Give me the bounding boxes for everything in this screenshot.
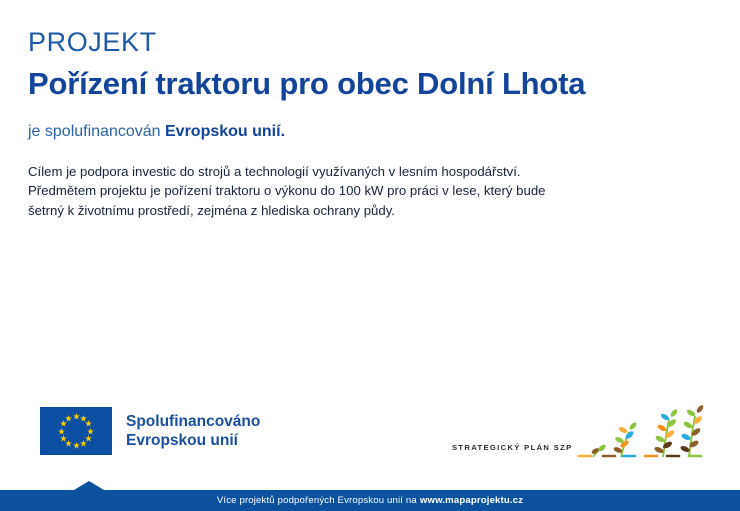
cofinancing-source: Evropskou unií. xyxy=(165,123,285,140)
poster-content: PROJEKT Pořízení traktoru pro obec Dolní… xyxy=(28,26,688,220)
eu-star-icon xyxy=(58,428,65,435)
banner-url-link[interactable]: www.mapaprojektu.cz xyxy=(420,495,523,506)
eu-star-icon xyxy=(87,428,94,435)
description-line-3: šetrný k životnímu prostředí, zejména z … xyxy=(28,201,668,220)
eu-star-icon xyxy=(80,440,87,447)
cofinancing-prefix: je spolufinancován xyxy=(28,123,161,140)
eu-flag-icon xyxy=(40,407,112,455)
eu-emblem-line-2: Evropskou unií xyxy=(126,431,260,450)
eu-star-icon xyxy=(60,435,67,442)
project-poster: PROJEKT Pořízení traktoru pro obec Dolní… xyxy=(0,0,740,511)
cofinancing-statement: je spolufinancován Evropskou unií. xyxy=(28,121,688,142)
poster-eyebrow: PROJEKT xyxy=(28,26,688,58)
szp-logo: STRATEGICKÝ PLÁN SZP xyxy=(452,404,709,464)
eu-star-icon xyxy=(85,420,92,427)
project-description: Cílem je podpora investic do strojů a te… xyxy=(28,162,668,220)
eu-emblem: Spolufinancováno Evropskou unií xyxy=(40,407,260,455)
eu-star-icon xyxy=(65,415,72,422)
eu-star-icon xyxy=(73,442,80,449)
bottom-banner-text: Více projektů podpořených Evropskou unií… xyxy=(0,490,740,511)
szp-logo-label: STRATEGICKÝ PLÁN SZP xyxy=(452,443,573,464)
page-title: Pořízení traktoru pro obec Dolní Lhota xyxy=(28,64,653,103)
eu-star-icon xyxy=(73,413,80,420)
banner-message: Více projektů podpořených Evropskou unií… xyxy=(217,495,417,506)
bar-notch-triangle xyxy=(74,481,104,490)
eu-emblem-text: Spolufinancováno Evropskou unií xyxy=(126,412,260,450)
description-line-1: Cílem je podpora investic do strojů a te… xyxy=(28,162,668,181)
description-line-2: Předmětem projektu je pořízení traktoru … xyxy=(28,181,668,200)
szp-plants-icon xyxy=(577,404,709,464)
eu-emblem-line-1: Spolufinancováno xyxy=(126,412,260,431)
